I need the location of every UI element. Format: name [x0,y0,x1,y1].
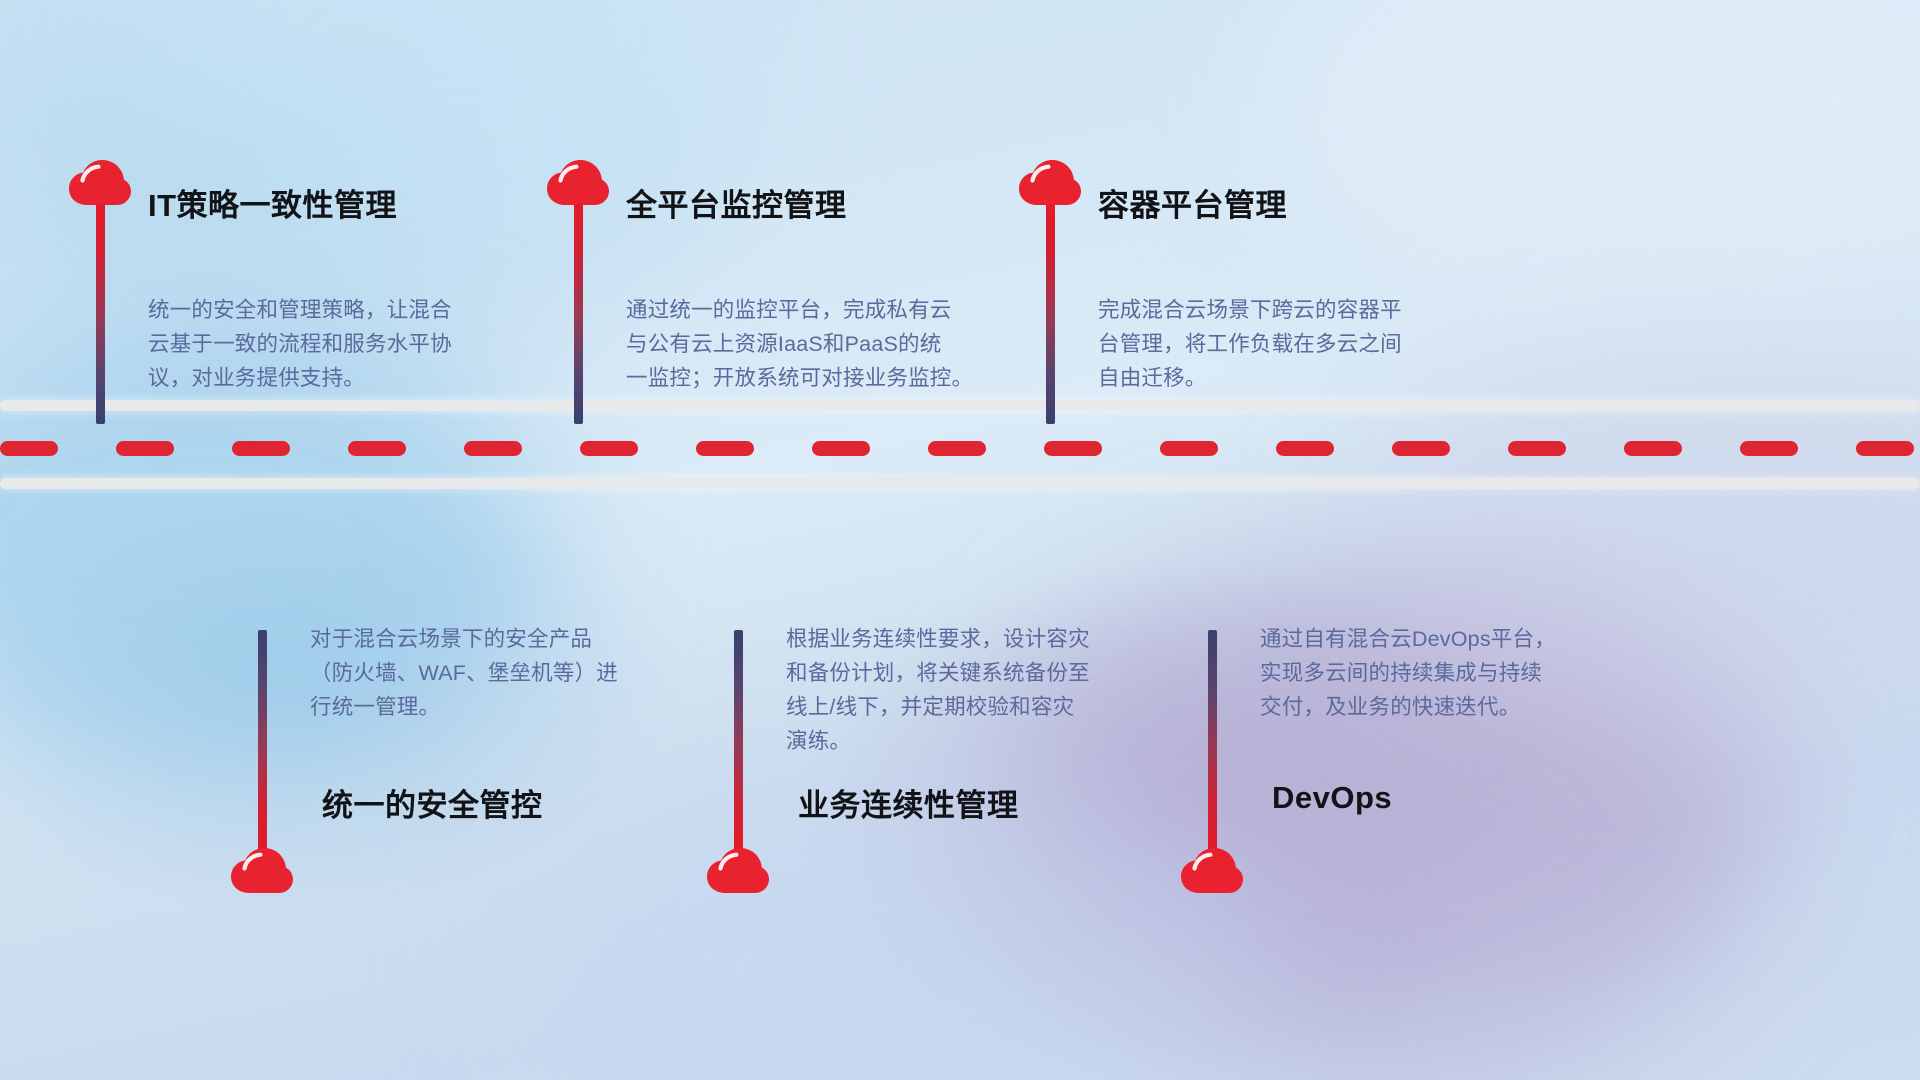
description-line: （防火墙、WAF、堡垒机等）进 [310,656,618,690]
cloud-icon [547,160,609,206]
road-center-dashes [0,441,1920,456]
road-dash [1508,441,1566,456]
road-dash [1624,441,1682,456]
cloud-icon [1181,848,1243,894]
timeline-stem [258,630,267,852]
road-dash [464,441,522,456]
timeline-stem [734,630,743,852]
road-dash [812,441,870,456]
item-title: IT策略一致性管理 [148,180,397,225]
cloud-icon [1019,160,1081,206]
road-dash [1044,441,1102,456]
timeline-stem [1046,204,1055,424]
item-title: 业务连续性管理 [798,780,1019,825]
cloud-icon [707,848,769,894]
road-dash [1160,441,1218,456]
road-dash [348,441,406,456]
item-title: DevOps [1272,780,1392,816]
road-edge-top [0,400,1920,411]
description-line: 线上/线下，并定期校验和容灾 [786,690,1090,724]
item-description: 完成混合云场景下跨云的容器平台管理，将工作负载在多云之间自由迁移。 [1098,293,1402,395]
description-line: 与公有云上资源IaaS和PaaS的统 [626,327,973,361]
road-dash [232,441,290,456]
road-dash [1856,441,1914,456]
item-title: 容器平台管理 [1098,180,1287,225]
road-dash [696,441,754,456]
description-line: 自由迁移。 [1098,361,1402,395]
description-line: 统一的安全和管理策略，让混合 [148,293,452,327]
background-blob [1260,0,1920,320]
cloud-icon [69,160,131,206]
description-line: 完成混合云场景下跨云的容器平 [1098,293,1402,327]
description-line: 根据业务连续性要求，设计容灾 [786,622,1090,656]
road-dash [1276,441,1334,456]
road-edge-bottom [0,478,1920,489]
road-dash [580,441,638,456]
item-description: 通过自有混合云DevOps平台，实现多云间的持续集成与持续交付，及业务的快速迭代… [1260,622,1556,724]
road-dash [1392,441,1450,456]
description-line: 通过统一的监控平台，完成私有云 [626,293,973,327]
description-line: 交付，及业务的快速迭代。 [1260,690,1556,724]
timeline-stem [574,204,583,424]
item-description: 通过统一的监控平台，完成私有云与公有云上资源IaaS和PaaS的统一监控；开放系… [626,293,973,395]
item-description: 对于混合云场景下的安全产品（防火墙、WAF、堡垒机等）进行统一管理。 [310,622,618,724]
item-title: 全平台监控管理 [626,180,847,225]
item-description: 根据业务连续性要求，设计容灾和备份计划，将关键系统备份至线上/线下，并定期校验和… [786,622,1090,758]
description-line: 一监控；开放系统可对接业务监控。 [626,361,973,395]
description-line: 台管理，将工作负载在多云之间 [1098,327,1402,361]
road-dash [116,441,174,456]
description-line: 对于混合云场景下的安全产品 [310,622,618,656]
road-dash [1740,441,1798,456]
description-line: 行统一管理。 [310,690,618,724]
description-line: 和备份计划，将关键系统备份至 [786,656,1090,690]
description-line: 演练。 [786,724,1090,758]
item-title: 统一的安全管控 [322,780,543,825]
cloud-icon [231,848,293,894]
description-line: 云基于一致的流程和服务水平协 [148,327,452,361]
road-dash [0,441,58,456]
timeline-stem [96,204,105,424]
description-line: 实现多云间的持续集成与持续 [1260,656,1556,690]
road-dash [928,441,986,456]
timeline-stem [1208,630,1217,852]
description-line: 通过自有混合云DevOps平台， [1260,622,1556,656]
infographic-canvas: IT策略一致性管理 统一的安全和管理策略，让混合云基于一致的流程和服务水平协议，… [0,0,1920,1080]
item-description: 统一的安全和管理策略，让混合云基于一致的流程和服务水平协议，对业务提供支持。 [148,293,452,395]
description-line: 议，对业务提供支持。 [148,361,452,395]
